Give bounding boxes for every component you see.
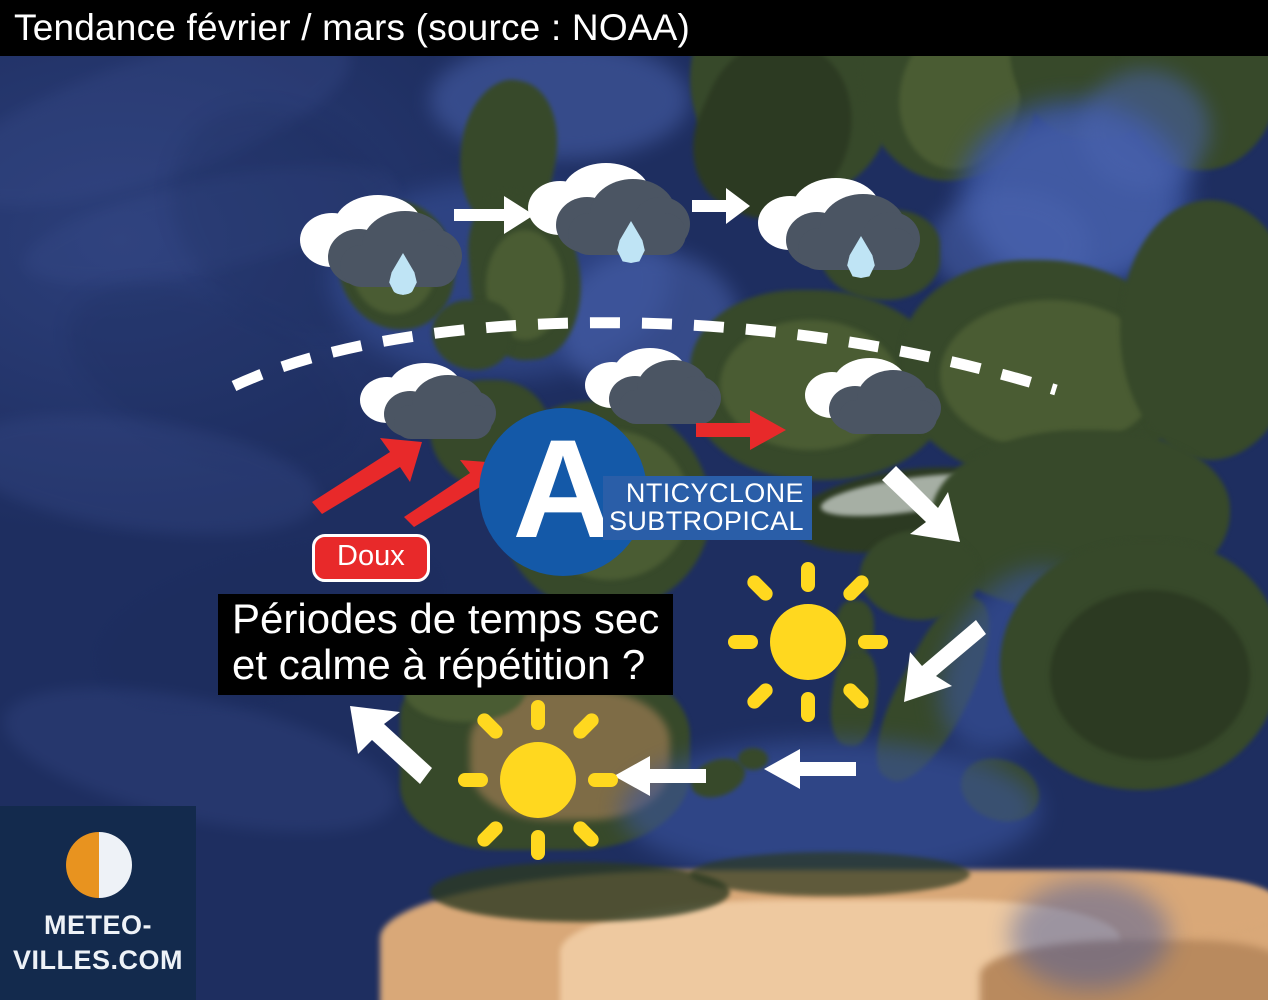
weather-infographic: A NTICYCLONE SUBTROPICAL Doux Périodes d… [0, 0, 1268, 1000]
status-badge-doux: Doux [312, 534, 430, 582]
anticyclone-label: NTICYCLONE SUBTROPICAL [603, 476, 812, 540]
logo-text-line2: VILLES.COM [0, 945, 196, 976]
red-arrow-icon [694, 406, 788, 454]
logo-halfcircle-icon [66, 832, 132, 898]
caption-box: Périodes de temps sec et calme à répétit… [218, 594, 673, 695]
white-arrow-icon [344, 700, 436, 788]
anticyclone-label-line2: SUBTROPICAL [609, 507, 804, 535]
white-arrow-icon [690, 185, 752, 227]
rain-cloud-icon [528, 163, 708, 273]
sun-icon [728, 562, 888, 722]
anticyclone-letter: A [512, 419, 613, 559]
doux-label: Doux [337, 540, 405, 572]
atlas-mountains [690, 852, 970, 896]
page-title: Tendance février / mars (source : NOAA) [0, 7, 690, 49]
anticyclone-label-line1: NTICYCLONE [609, 479, 804, 507]
gulf-of-sirte [1010, 880, 1170, 990]
caption-line1: Périodes de temps sec [232, 598, 659, 640]
gulf-of-finland [1080, 70, 1210, 190]
white-arrow-icon [878, 462, 966, 550]
atlas-mountains [430, 862, 730, 922]
white-arrow-icon [762, 745, 858, 793]
caption-line2: et calme à répétition ? [232, 644, 659, 686]
logo-meteo-villes[interactable]: METEO- VILLES.COM [0, 806, 196, 1000]
landmass-balkans [1050, 590, 1250, 760]
logo-text-line1: METEO- [0, 910, 196, 941]
title-banner: Tendance février / mars (source : NOAA) [0, 0, 1268, 56]
white-arrow-icon [612, 752, 708, 800]
white-arrow-icon [902, 616, 988, 712]
cloud-icon [805, 358, 955, 442]
rain-cloud-icon [758, 178, 938, 288]
sun-icon [458, 700, 618, 860]
white-arrow-icon [452, 192, 536, 238]
